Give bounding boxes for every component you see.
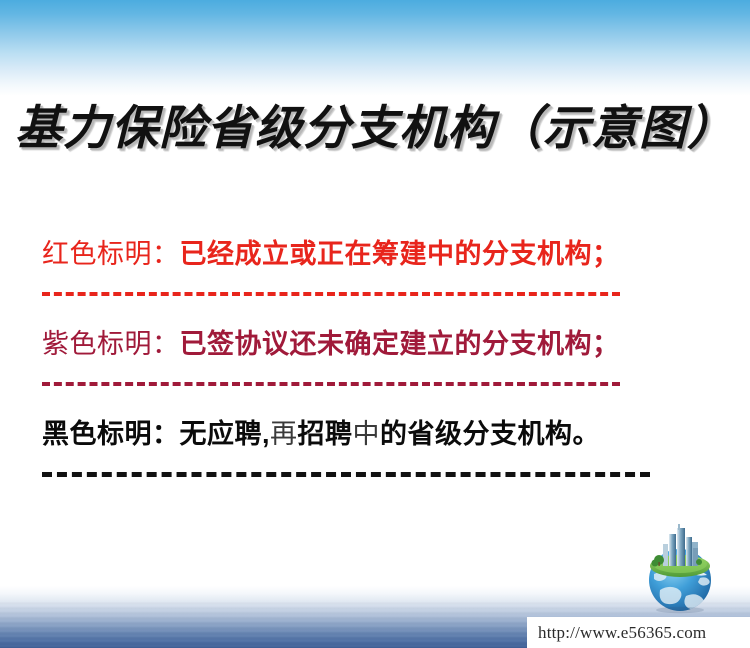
legend-item-black: 黑色标明：无应聘,再招聘中的省级分支机构。 xyxy=(42,412,682,456)
legend-block: 红色标明：已经成立或正在筹建中的分支机构； 紫色标明：已签协议还未确定建立的分支… xyxy=(42,232,682,482)
legend-black-tail-c: 的省级分支机构。 xyxy=(380,419,600,449)
sky-gradient-band xyxy=(0,0,750,96)
legend-black-tail-a: 无应聘, xyxy=(180,419,271,449)
slide-canvas: 基力保险省级分支机构（示意图） 红色标明：已经成立或正在筹建中的分支机构； 紫色… xyxy=(0,0,750,648)
spacer xyxy=(42,276,682,292)
legend-item-red: 红色标明：已经成立或正在筹建中的分支机构； xyxy=(42,232,682,276)
divider-black xyxy=(42,472,682,482)
site-url-watermark: http://www.e56365.com xyxy=(527,617,750,648)
divider-purple-line xyxy=(42,382,620,386)
legend-black-tail-b: 招聘 xyxy=(298,419,353,449)
legend-red-lead: 红色标明： xyxy=(42,239,180,269)
divider-purple xyxy=(42,382,682,392)
page-title: 基力保险省级分支机构（示意图） xyxy=(0,98,750,160)
divider-red xyxy=(42,292,682,302)
legend-black-lead: 黑色标明： xyxy=(42,419,180,449)
globe-city-icon xyxy=(626,518,734,614)
legend-purple-lead: 紫色标明： xyxy=(42,329,180,359)
legend-black-tail-soft-a: 再 xyxy=(270,419,298,449)
spacer xyxy=(42,366,682,382)
divider-red-line xyxy=(42,292,620,296)
legend-item-purple: 紫色标明：已签协议还未确定建立的分支机构； xyxy=(42,322,682,366)
spacer xyxy=(42,392,682,412)
legend-black-tail-soft-b: 中 xyxy=(353,419,381,449)
divider-black-line xyxy=(42,472,650,477)
spacer xyxy=(42,302,682,322)
legend-purple-tail: 已签协议还未确定建立的分支机构； xyxy=(180,329,620,359)
spacer xyxy=(42,456,682,472)
legend-red-tail: 已经成立或正在筹建中的分支机构； xyxy=(180,239,620,269)
